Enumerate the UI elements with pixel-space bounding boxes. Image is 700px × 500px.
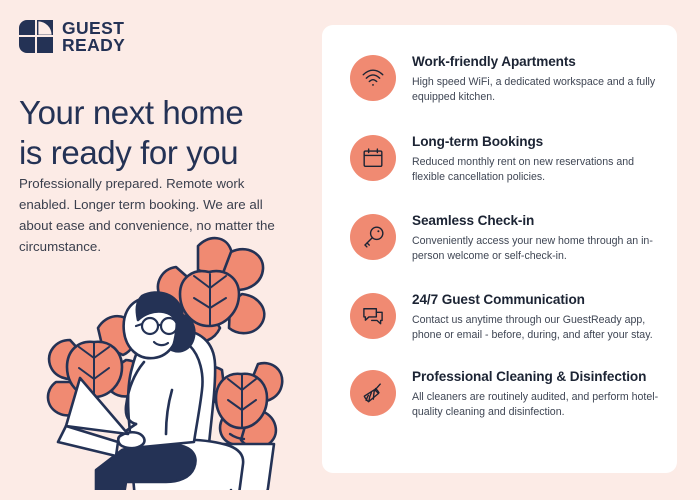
feature-title: Work-friendly Apartments [412, 54, 663, 71]
feature-title: Professional Cleaning & Disinfection [412, 369, 663, 386]
feature-title: Long-term Bookings [412, 134, 663, 151]
hero-illustration [26, 222, 316, 490]
feature-title: Seamless Check-in [412, 213, 663, 230]
feature-item-guest-communication[interactable]: 24/7 Guest Communication Contact us anyt… [350, 291, 663, 343]
feature-text: Professional Cleaning & Disinfection All… [412, 368, 663, 420]
feature-item-long-term-bookings[interactable]: Long-term Bookings Reduced monthly rent … [350, 133, 663, 185]
feature-description: High speed WiFi, a dedicated workspace a… [412, 75, 663, 105]
feature-description: Contact us anytime through our GuestRead… [412, 313, 663, 343]
brand-wordmark: GUEST READY [62, 20, 125, 54]
feature-text: Seamless Check-in Conveniently access yo… [412, 212, 663, 264]
feature-description: Reduced monthly rent on new reservations… [412, 155, 663, 185]
key-icon [350, 214, 396, 260]
features-card: Work-friendly Apartments High speed WiFi… [322, 25, 677, 473]
feature-text: Work-friendly Apartments High speed WiFi… [412, 53, 663, 105]
feature-text: 24/7 Guest Communication Contact us anyt… [412, 291, 663, 343]
hero-column: GUEST READY Your next home is ready for … [0, 0, 322, 500]
guestready-quadrant-logo-icon [19, 20, 53, 53]
chat-bubbles-icon [350, 293, 396, 339]
feature-description: Conveniently access your new home throug… [412, 234, 663, 264]
feature-item-work-friendly-apartments[interactable]: Work-friendly Apartments High speed WiFi… [350, 53, 663, 105]
feature-item-professional-cleaning[interactable]: Professional Cleaning & Disinfection All… [350, 368, 663, 420]
feature-title: 24/7 Guest Communication [412, 292, 663, 309]
wifi-icon [350, 55, 396, 101]
feature-list: Work-friendly Apartments High speed WiFi… [322, 25, 677, 420]
marketing-page: GUEST READY Your next home is ready for … [0, 0, 700, 500]
feature-item-seamless-check-in[interactable]: Seamless Check-in Conveniently access yo… [350, 212, 663, 264]
page-title: Your next home is ready for you [19, 93, 309, 174]
feature-description: All cleaners are routinely audited, and … [412, 390, 663, 420]
feature-text: Long-term Bookings Reduced monthly rent … [412, 133, 663, 185]
calendar-icon [350, 135, 396, 181]
broom-icon [350, 370, 396, 416]
features-column: Work-friendly Apartments High speed WiFi… [322, 0, 700, 500]
brand-logo[interactable]: GUEST READY [19, 20, 125, 54]
